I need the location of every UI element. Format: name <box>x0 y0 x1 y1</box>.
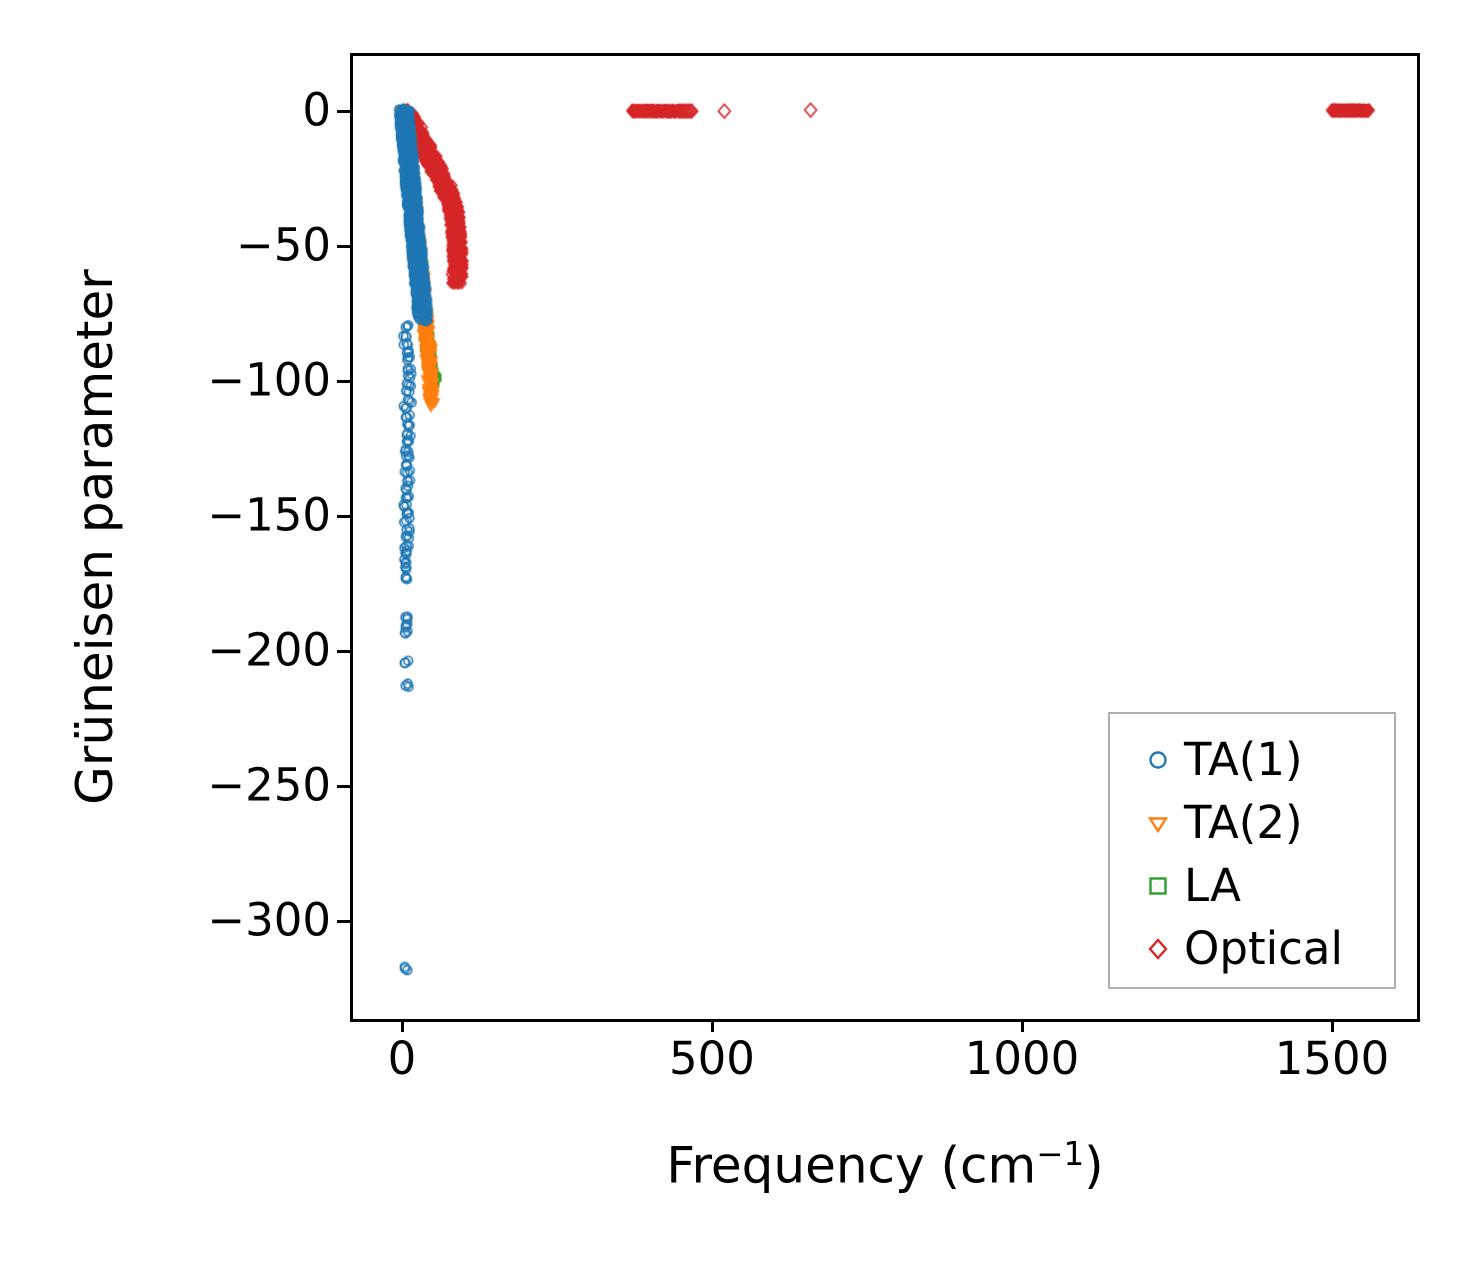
x-tick-mark-1500 <box>1331 1019 1334 1032</box>
legend-item-ta2[interactable]: TA(2) <box>1110 791 1394 854</box>
y-tick-mark-m50 <box>337 245 350 248</box>
circle-marker-icon <box>1132 747 1184 773</box>
y-tick-label-m300: −300 <box>207 898 331 943</box>
y-tick-mark-m250 <box>337 785 350 788</box>
x-tick-mark-500 <box>711 1019 714 1032</box>
x-tick-label-1000: 1000 <box>965 1036 1080 1081</box>
x-tick-mark-0 <box>401 1019 404 1032</box>
y-tick-mark-m300 <box>337 920 350 923</box>
x-tick-label-500: 500 <box>669 1036 755 1081</box>
legend-box: TA(1) TA(2) LA Optic <box>1108 712 1396 989</box>
diamond-marker-icon <box>1132 936 1184 962</box>
square-marker-icon <box>1132 873 1184 899</box>
figure-canvas: 0 500 1000 1500 0 −50 −100 −150 −200 −25… <box>0 0 1480 1264</box>
legend-label-ta2: TA(2) <box>1184 800 1303 845</box>
triangle-down-marker-icon <box>1132 810 1184 836</box>
y-tick-mark-0 <box>337 110 350 113</box>
y-tick-label-m250: −250 <box>207 763 331 808</box>
y-tick-label-m200: −200 <box>207 628 331 673</box>
y-tick-mark-m200 <box>337 650 350 653</box>
legend-item-la[interactable]: LA <box>1110 854 1394 917</box>
x-tick-label-1500: 1500 <box>1275 1036 1390 1081</box>
y-tick-mark-m150 <box>337 515 350 518</box>
legend-item-optical[interactable]: Optical <box>1110 917 1394 980</box>
x-axis-title: Frequency (cm−1) <box>666 1135 1103 1195</box>
legend-label-ta1: TA(1) <box>1184 737 1303 782</box>
y-tick-mark-m100 <box>337 380 350 383</box>
y-tick-label-0: 0 <box>302 88 331 133</box>
y-tick-label-m100: −100 <box>207 358 331 403</box>
y-tick-label-m150: −150 <box>207 493 331 538</box>
legend-label-la: LA <box>1184 863 1241 908</box>
x-axis-title-exponent: −1 <box>1036 1135 1084 1173</box>
x-tick-label-0: 0 <box>388 1036 417 1081</box>
x-tick-mark-1000 <box>1021 1019 1024 1032</box>
y-axis-title: Grüneisen parameter <box>66 269 124 805</box>
y-tick-label-m50: −50 <box>236 223 331 268</box>
legend-label-optical: Optical <box>1184 926 1343 971</box>
x-axis-title-tail: ) <box>1084 1137 1104 1195</box>
x-axis-title-main: Frequency (cm <box>666 1137 1036 1195</box>
legend-item-ta1[interactable]: TA(1) <box>1110 728 1394 791</box>
